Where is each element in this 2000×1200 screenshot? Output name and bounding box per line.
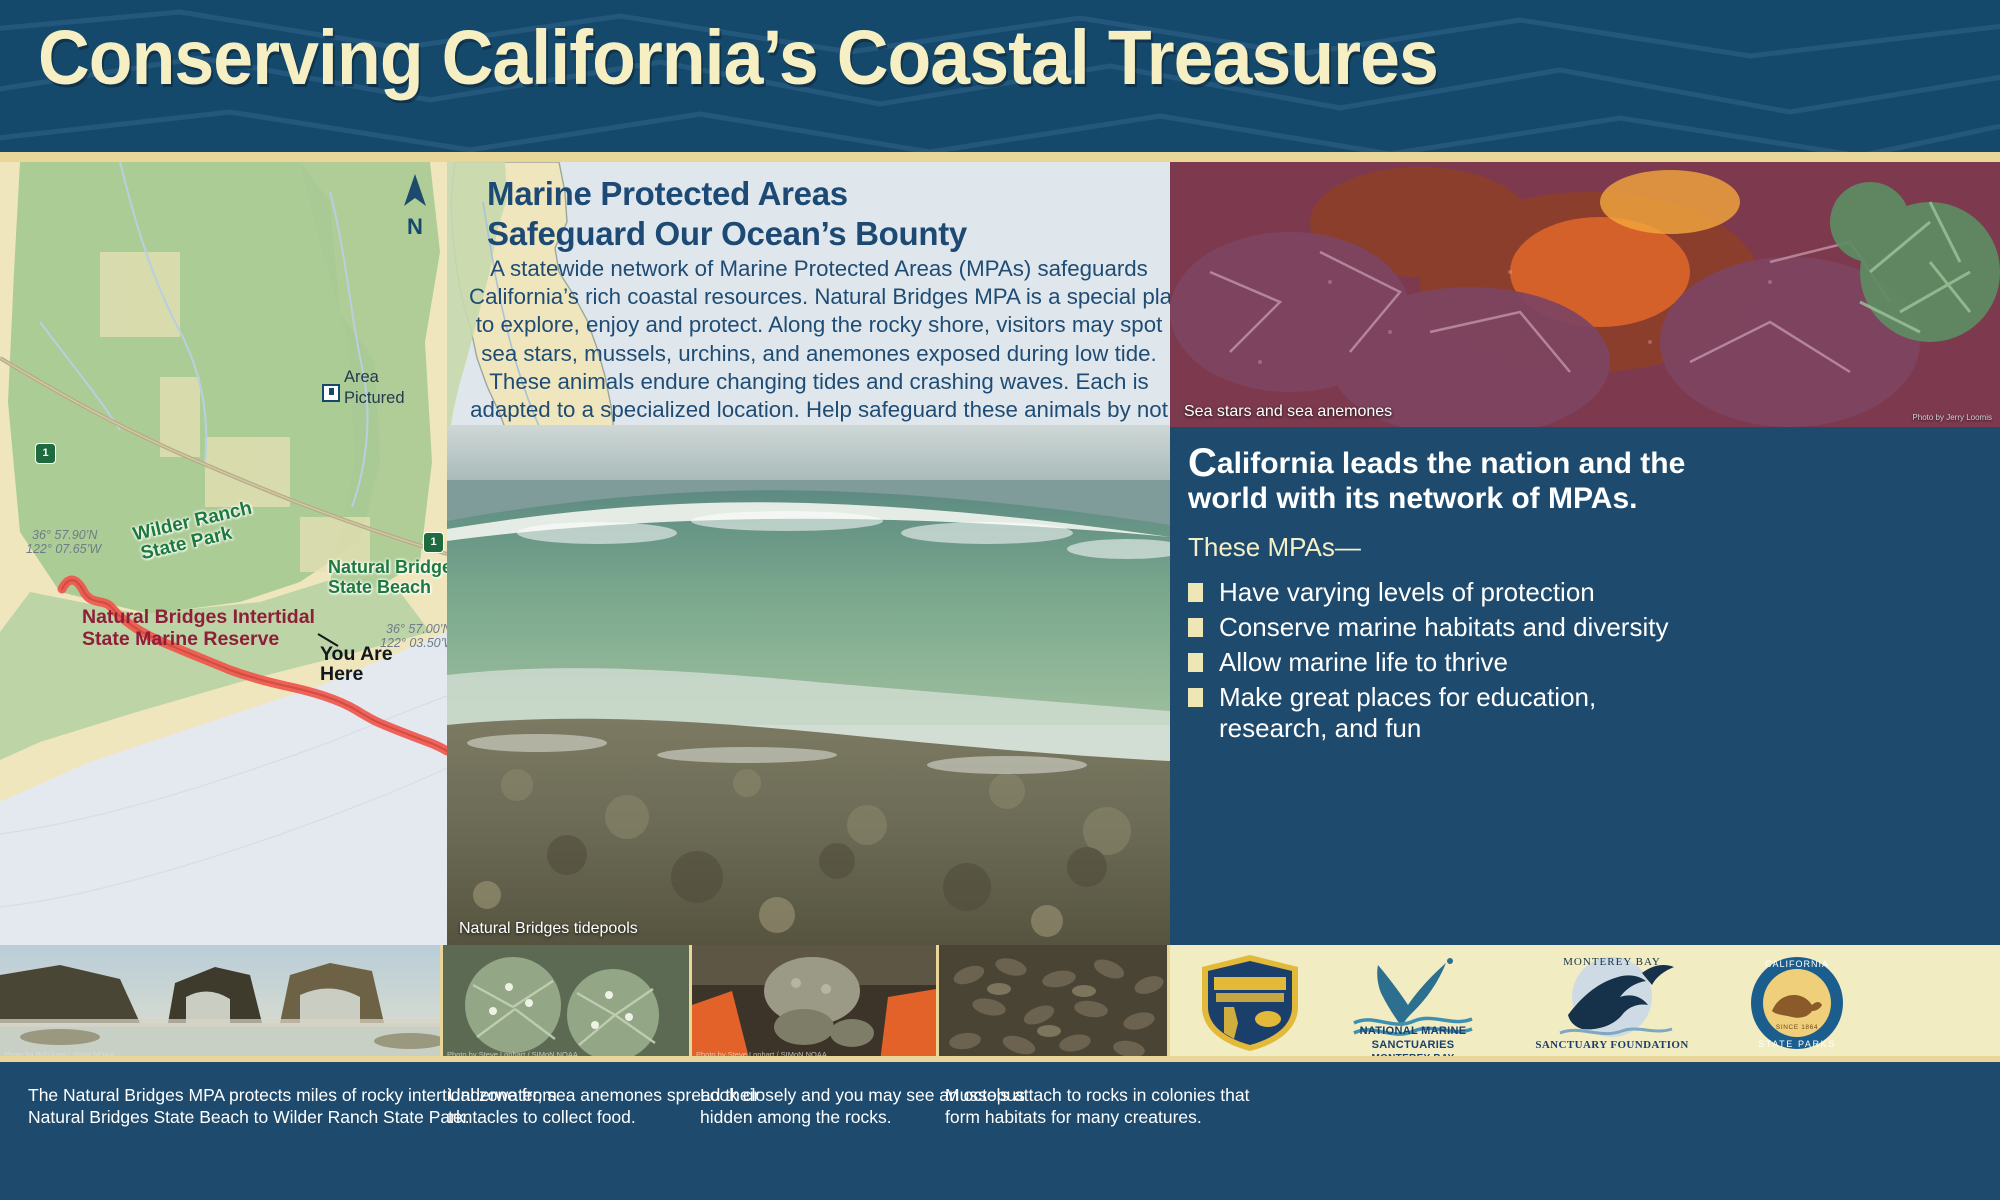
bottom-caption-4: Mussels attach to rocks in colonies that… [945, 1084, 1249, 1128]
body-line-2: California’s rich coastal resources. Nat… [469, 283, 1169, 311]
svg-text:STATE PARKS: STATE PARKS [1758, 1039, 1836, 1049]
svg-text:MONTEREY BAY: MONTEREY BAY [1563, 956, 1661, 968]
body-line-4: sea stars, mussels, urchins, and anemone… [469, 340, 1169, 368]
main-heading-line2: Safeguard Our Ocean’s Bounty [487, 214, 1170, 254]
header-gold-rule [0, 152, 2000, 162]
state-parks-bear-seal-icon: CALIFORNIA STATE PARKS SINCE 1864 [1742, 953, 1852, 1053]
natural-bridges-beach-label-line1: Natural Bridges [328, 558, 447, 577]
arch-photo-graphic [0, 945, 440, 1062]
coordinate-label-northwest-line2: 122° 07.65’W [26, 542, 101, 558]
divider-bottom-rule [0, 1056, 1170, 1062]
divider-3 [936, 945, 939, 1062]
humpback-whale-icon: MONTEREY BAY [1522, 953, 1702, 1053]
location-map[interactable]: N Area Pictured 1 1 36° 57.90’N 122° 07.… [0, 162, 447, 945]
svg-text:SINCE 1864: SINCE 1864 [1776, 1024, 1818, 1031]
logo-ca-fish-and-game [1194, 953, 1306, 1053]
right-column: Sea stars and sea anemones Photo by Jerr… [1170, 162, 2000, 945]
interpretive-sign: Conserving California’s Coastal Treasure… [0, 0, 2000, 1200]
bottom-caption-4-line1: Mussels attach to rocks in colonies that [945, 1084, 1249, 1106]
tidepool-wave-photo: Natural Bridges tidepools [447, 425, 1170, 945]
divider-bottom-rule-right [1170, 1056, 2000, 1062]
svg-text:CALIFORNIA: CALIFORNIA [1765, 959, 1829, 969]
highway-1-shield-west: 1 [35, 443, 56, 464]
wave-photo-caption: Natural Bridges tidepools [459, 920, 638, 938]
area-pictured-marker-icon [322, 384, 340, 402]
bottom-caption-4-line2: form habitats for many creatures. [945, 1106, 1249, 1128]
area-pictured-label-line1: Area [344, 368, 379, 387]
natural-bridges-beach-label-line2: State Beach [328, 578, 431, 597]
logo-national-marine-sanctuaries: NATIONAL MARINE SANCTUARIES MONTEREY BAY [1338, 953, 1488, 1053]
wave-photo-graphic [447, 425, 1170, 945]
sea-stars-graphic [1170, 162, 2000, 427]
page-title: Conserving California’s Coastal Treasure… [38, 20, 1438, 97]
whale-tail-icon [1338, 953, 1488, 1053]
main-heading: Marine Protected Areas Safeguard Our Oce… [487, 174, 1170, 253]
logo-caption-line2: SANCTUARIES [1338, 1039, 1488, 1051]
mussels-photo-graphic [939, 945, 1167, 1062]
divider-2 [689, 945, 692, 1062]
bottom-caption-bar: The Natural Bridges MPA protects miles o… [0, 1062, 2000, 1200]
divider-1 [440, 945, 443, 1062]
sea-stars-photo-credit: Photo by Jerry Loomis [1912, 413, 1992, 422]
divider-4 [1167, 945, 1170, 1062]
you-are-here-leader-line [300, 632, 340, 672]
logo-california-state-parks: CALIFORNIA STATE PARKS SINCE 1864 [1742, 953, 1852, 1053]
area-pictured-label-line2: Pictured [344, 389, 405, 408]
logo-caption-line1: NATIONAL MARINE [1338, 1025, 1488, 1037]
mpa-name-label-line2: State Marine Reserve [82, 628, 279, 651]
anemone-photo-graphic [443, 945, 689, 1062]
ca-fish-game-shield-icon [1194, 953, 1306, 1053]
body-line-6: adapted to a specialized location. Help … [469, 396, 1169, 424]
highway-1-shield-east: 1 [423, 532, 444, 553]
body-line-5: These animals endure changing tides and … [469, 368, 1169, 396]
body-line-3: to explore, enjoy and protect. Along the… [469, 311, 1169, 339]
logo-caption: SANCTUARY FOUNDATION [1522, 1039, 1702, 1051]
octopus-photo-graphic [692, 945, 936, 1062]
north-arrow-label: N [398, 214, 432, 240]
sea-anemone-photo: Photo by Steve Lonhart / SIMoN NOAA [443, 945, 689, 1062]
agency-logo-strip: NATIONAL MARINE SANCTUARIES MONTEREY BAY… [1170, 945, 2000, 1062]
body-line-1: A statewide network of Marine Protected … [469, 255, 1169, 283]
sign-header: Conserving California’s Coastal Treasure… [0, 0, 2000, 152]
mpa-name-label-line1: Natural Bridges Intertidal [82, 606, 315, 629]
mpa-facts-panel: California leads the nation and the worl… [1170, 427, 2000, 945]
logo-monterey-bay-sanctuary-foundation: MONTEREY BAY SANCTUARY FOUNDATION [1522, 953, 1702, 1053]
natural-bridges-arch-photo: Photo by Bob King / Shilat NOAA [0, 945, 440, 1062]
sea-stars-photo: Sea stars and sea anemones Photo by Jerr… [1170, 162, 2000, 427]
main-content-column: Marine Protected Areas Safeguard Our Oce… [447, 162, 1170, 945]
sea-stars-caption: Sea stars and sea anemones [1184, 403, 1392, 421]
main-heading-line1: Marine Protected Areas [487, 174, 1170, 214]
octopus-photo: Photo by Steve Lonhart / SIMoN NOAA [692, 945, 936, 1062]
main-body-text: A statewide network of Marine Protected … [469, 255, 1169, 452]
mussels-photo [939, 945, 1167, 1062]
